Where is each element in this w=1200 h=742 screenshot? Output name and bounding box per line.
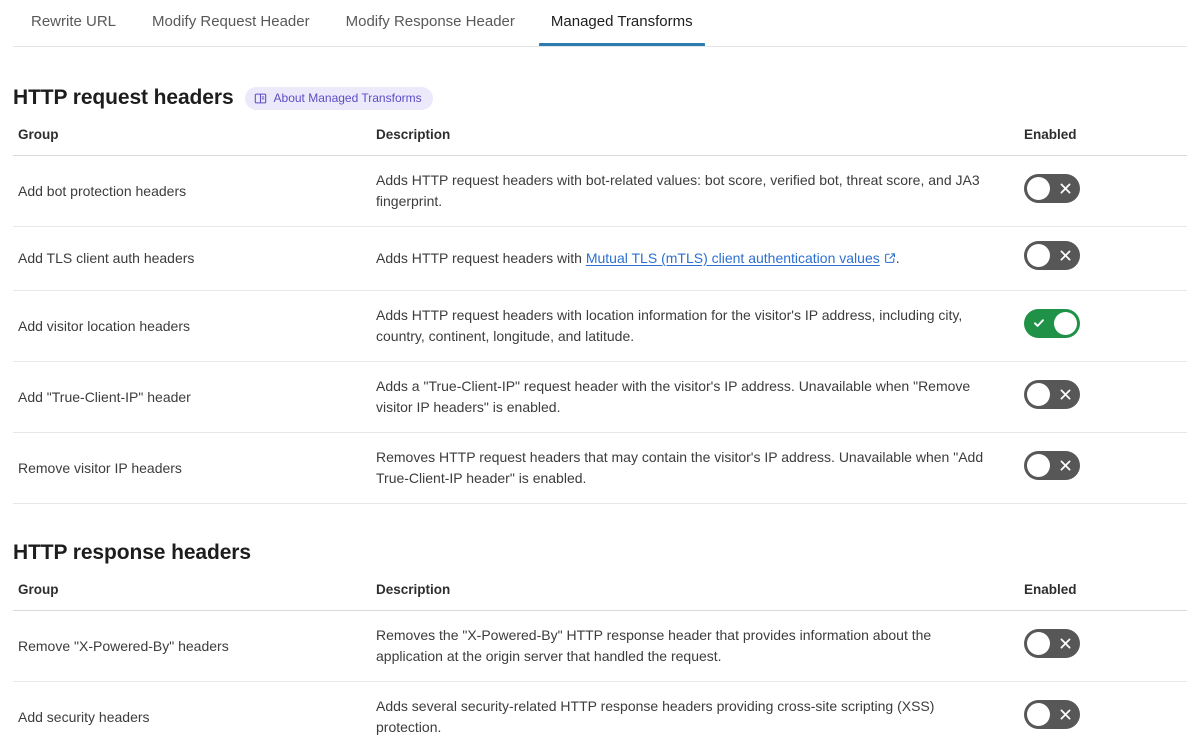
row-group-label: Add "True-Client-IP" header xyxy=(13,362,371,433)
row-enabled-cell xyxy=(1024,227,1187,291)
row-group-label: Add visitor location headers xyxy=(13,291,371,362)
table-row: Remove visitor IP headers Removes HTTP r… xyxy=(13,433,1187,504)
request-section-title: HTTP request headers xyxy=(13,85,234,111)
toggle-knob xyxy=(1027,703,1050,726)
toggle-add-security-headers[interactable] xyxy=(1024,700,1080,729)
row-group-label: Add TLS client auth headers xyxy=(13,227,371,291)
row-enabled-cell xyxy=(1024,291,1187,362)
http-response-headers-section: HTTP response headers Group Description … xyxy=(0,540,1200,742)
description-prefix: Adds HTTP request headers with xyxy=(376,250,586,266)
row-group-label: Remove "X-Powered-By" headers xyxy=(13,611,371,682)
toggle-knob xyxy=(1027,383,1050,406)
book-icon xyxy=(254,92,267,105)
tab-modify-request-header[interactable]: Modify Request Header xyxy=(134,0,328,45)
http-request-headers-section: HTTP request headers About Managed Trans… xyxy=(0,85,1200,504)
row-enabled-cell xyxy=(1024,682,1187,742)
table-row: Add "True-Client-IP" header Adds a "True… xyxy=(13,362,1187,433)
column-header-description: Description xyxy=(371,580,1024,611)
about-managed-transforms-link[interactable]: About Managed Transforms xyxy=(245,87,433,110)
toggle-remove-x-powered-by-headers[interactable] xyxy=(1024,629,1080,658)
row-description: Adds HTTP request headers with Mutual TL… xyxy=(371,227,1024,291)
about-badge-label: About Managed Transforms xyxy=(274,90,422,107)
column-header-enabled: Enabled xyxy=(1024,580,1187,611)
row-description: Adds a "True-Client-IP" request header w… xyxy=(371,362,1024,433)
response-section-title: HTTP response headers xyxy=(13,540,251,566)
row-enabled-cell xyxy=(1024,433,1187,504)
toggle-add-true-client-ip-header[interactable] xyxy=(1024,380,1080,409)
toggle-knob xyxy=(1054,312,1077,335)
toggle-add-visitor-location-headers[interactable] xyxy=(1024,309,1080,338)
row-description: Removes the "X-Powered-By" HTTP response… xyxy=(371,611,1024,682)
row-enabled-cell xyxy=(1024,156,1187,227)
table-row: Remove "X-Powered-By" headers Removes th… xyxy=(13,611,1187,682)
column-header-enabled: Enabled xyxy=(1024,125,1187,156)
request-section-header: HTTP request headers About Managed Trans… xyxy=(13,85,1187,111)
external-link-icon xyxy=(884,249,896,270)
tab-managed-transforms[interactable]: Managed Transforms xyxy=(533,0,711,45)
toggle-add-tls-client-auth-headers[interactable] xyxy=(1024,241,1080,270)
toggle-remove-visitor-ip-headers[interactable] xyxy=(1024,451,1080,480)
table-header-row: Group Description Enabled xyxy=(13,580,1187,611)
row-group-label: Add bot protection headers xyxy=(13,156,371,227)
close-icon xyxy=(1050,241,1080,270)
column-header-group: Group xyxy=(13,125,371,156)
close-icon xyxy=(1050,629,1080,658)
row-enabled-cell xyxy=(1024,611,1187,682)
table-row: Add bot protection headers Adds HTTP req… xyxy=(13,156,1187,227)
row-description: Adds HTTP request headers with location … xyxy=(371,291,1024,362)
column-header-group: Group xyxy=(13,580,371,611)
table-header-row: Group Description Enabled xyxy=(13,125,1187,156)
request-headers-table: Group Description Enabled Add bot protec… xyxy=(13,125,1187,504)
toggle-knob xyxy=(1027,244,1050,267)
mutual-tls-docs-link[interactable]: Mutual TLS (mTLS) client authentication … xyxy=(586,250,880,266)
row-group-label: Add security headers xyxy=(13,682,371,742)
toggle-knob xyxy=(1027,632,1050,655)
column-header-description: Description xyxy=(371,125,1024,156)
close-icon xyxy=(1050,174,1080,203)
tab-rewrite-url[interactable]: Rewrite URL xyxy=(13,0,134,45)
toggle-add-bot-protection-headers[interactable] xyxy=(1024,174,1080,203)
row-enabled-cell xyxy=(1024,362,1187,433)
toggle-knob xyxy=(1027,177,1050,200)
tab-bar: Rewrite URL Modify Request Header Modify… xyxy=(0,0,1200,47)
description-suffix: . xyxy=(896,250,900,266)
table-row: Add TLS client auth headers Adds HTTP re… xyxy=(13,227,1187,291)
response-headers-table: Group Description Enabled Remove "X-Powe… xyxy=(13,580,1187,742)
row-description: Removes HTTP request headers that may co… xyxy=(371,433,1024,504)
close-icon xyxy=(1050,700,1080,729)
row-description: Adds several security-related HTTP respo… xyxy=(371,682,1024,742)
toggle-knob xyxy=(1027,454,1050,477)
row-group-label: Remove visitor IP headers xyxy=(13,433,371,504)
table-row: Add visitor location headers Adds HTTP r… xyxy=(13,291,1187,362)
row-description: Adds HTTP request headers with bot-relat… xyxy=(371,156,1024,227)
tab-modify-response-header[interactable]: Modify Response Header xyxy=(328,0,533,45)
check-icon xyxy=(1024,309,1054,338)
table-row: Add security headers Adds several securi… xyxy=(13,682,1187,742)
close-icon xyxy=(1050,380,1080,409)
response-section-header: HTTP response headers xyxy=(13,540,1187,566)
close-icon xyxy=(1050,451,1080,480)
